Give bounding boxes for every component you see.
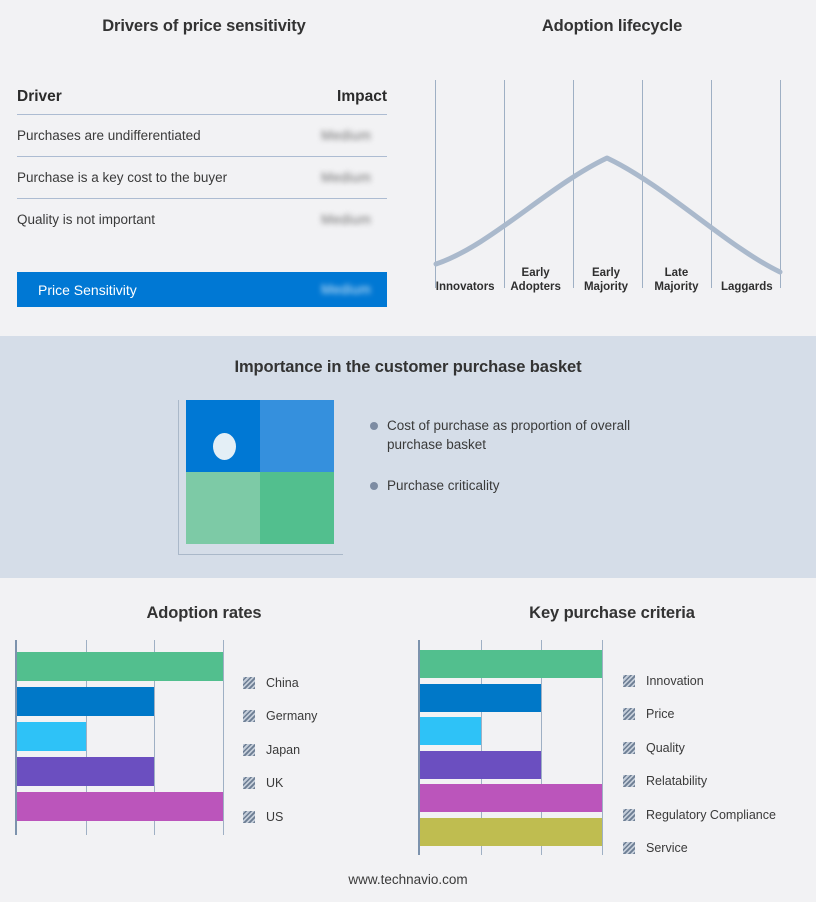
bar (420, 818, 602, 846)
top-section: Drivers of price sensitivity Driver Impa… (0, 0, 816, 336)
legend-item: Germany (243, 700, 317, 734)
drivers-table: Driver Impact Purchases are undifferenti… (17, 88, 387, 240)
legend-swatch-icon (243, 744, 255, 756)
matrix-quadrants (186, 400, 334, 544)
legend-label: Quality (646, 741, 685, 755)
legend-swatch-icon (623, 742, 635, 754)
legend-item: Quality (623, 731, 776, 765)
bar (17, 652, 223, 681)
legend-swatch-icon (243, 677, 255, 689)
lifecycle-chart: Innovators EarlyAdopters EarlyMajority L… (430, 76, 800, 310)
bar (17, 792, 223, 821)
legend-item: Price (623, 698, 776, 732)
impact-value: Medium (321, 128, 387, 143)
page-title-adoption-rates: Adoption rates (0, 604, 408, 623)
bar (420, 650, 602, 678)
legend-swatch-icon (623, 842, 635, 854)
legend-item: UK (243, 767, 317, 801)
legend-label: China (266, 676, 299, 690)
summary-impact-value: Medium (321, 282, 387, 297)
lifecycle-stage-early-adopters: EarlyAdopters (500, 266, 570, 294)
table-row: Purchases are undifferentiated Medium (17, 115, 387, 157)
column-header-driver: Driver (17, 88, 62, 106)
matrix-y-axis (178, 400, 179, 555)
panel-importance-in-purchase-basket: Importance in the customer purchase bask… (0, 336, 816, 578)
impact-value: Medium (321, 170, 387, 185)
impact-value: Medium (321, 212, 387, 227)
price-sensitivity-summary-row: Price Sensitivity Medium (17, 272, 387, 307)
bar (17, 722, 86, 751)
bar (17, 757, 154, 786)
legend-swatch-icon (623, 708, 635, 720)
lifecycle-stage-early-majority: EarlyMajority (571, 266, 641, 294)
gridline (223, 640, 224, 835)
legend-item: China (243, 666, 317, 700)
adoption-bell-curve (436, 158, 780, 272)
legend-label: Purchase criticality (387, 476, 500, 495)
legend-swatch-icon (623, 775, 635, 787)
lifecycle-curve-svg (430, 76, 790, 291)
bar (420, 751, 541, 779)
legend-item: Cost of purchase as proportion of overal… (370, 416, 670, 454)
legend-swatch-icon (243, 811, 255, 823)
panel-adoption-rates: Adoption rates ChinaGermanyJapanUKUS (0, 578, 408, 902)
bar (420, 717, 481, 745)
matrix-x-axis (178, 554, 343, 555)
chart-legend: InnovationPriceQualityRelatabilityRegula… (623, 664, 776, 865)
panel-key-purchase-criteria: Key purchase criteria InnovationPriceQua… (408, 578, 816, 902)
legend-label: Cost of purchase as proportion of overal… (387, 416, 670, 454)
legend-item: Regulatory Compliance (623, 798, 776, 832)
legend-item: Service (623, 832, 776, 866)
purchase-basket-matrix (178, 400, 343, 555)
matrix-quadrant-bottom-right (260, 472, 334, 544)
lifecycle-stage-labels: Innovators EarlyAdopters EarlyMajority L… (430, 266, 782, 294)
bar (17, 687, 154, 716)
legend-label: Innovation (646, 674, 704, 688)
lifecycle-stage-late-majority: LateMajority (641, 266, 711, 294)
legend-swatch-icon (623, 675, 635, 687)
legend-item: Purchase criticality (370, 476, 670, 495)
matrix-quadrant-top-right (260, 400, 334, 472)
bar (420, 684, 541, 712)
driver-label: Quality is not important (17, 212, 155, 227)
footer-website-url: www.technavio.com (0, 872, 816, 887)
legend-label: Regulatory Compliance (646, 808, 776, 822)
legend-label: Japan (266, 743, 300, 757)
summary-label: Price Sensitivity (38, 282, 137, 298)
column-header-impact: Impact (337, 88, 387, 106)
legend-label: Germany (266, 709, 317, 723)
panel-adoption-lifecycle: Adoption lifecycle Innovators EarlyAdopt… (408, 0, 816, 336)
bullet-icon (370, 422, 378, 430)
legend-swatch-icon (623, 809, 635, 821)
lifecycle-stage-innovators: Innovators (430, 280, 500, 294)
legend-item: Relatability (623, 765, 776, 799)
matrix-quadrant-bottom-left (186, 472, 260, 544)
table-row: Quality is not important Medium (17, 199, 387, 240)
chart-plot-area (15, 640, 223, 835)
legend-item: US (243, 800, 317, 834)
page-title-basket: Importance in the customer purchase bask… (0, 358, 816, 377)
legend-label: US (266, 810, 283, 824)
matrix-position-marker-icon (213, 433, 236, 460)
legend-label: Service (646, 841, 688, 855)
table-row: Purchase is a key cost to the buyer Medi… (17, 157, 387, 199)
page-title-drivers: Drivers of price sensitivity (0, 17, 408, 36)
legend-swatch-icon (243, 710, 255, 722)
gridline (602, 640, 603, 855)
legend-swatch-icon (243, 777, 255, 789)
legend-label: Price (646, 707, 674, 721)
bar (420, 784, 602, 812)
legend-item: Innovation (623, 664, 776, 698)
table-header-row: Driver Impact (17, 88, 387, 115)
driver-label: Purchases are undifferentiated (17, 128, 201, 143)
page-title-lifecycle: Adoption lifecycle (408, 17, 816, 36)
driver-label: Purchase is a key cost to the buyer (17, 170, 227, 185)
chart-legend: ChinaGermanyJapanUKUS (243, 666, 317, 834)
panel-drivers-of-price-sensitivity: Drivers of price sensitivity Driver Impa… (0, 0, 408, 336)
bullet-icon (370, 482, 378, 490)
legend-label: Relatability (646, 774, 707, 788)
basket-legend: Cost of purchase as proportion of overal… (370, 416, 670, 517)
chart-plot-area (418, 640, 602, 855)
page-title-key-purchase-criteria: Key purchase criteria (408, 604, 816, 623)
legend-label: UK (266, 776, 283, 790)
legend-item: Japan (243, 733, 317, 767)
bottom-section: Adoption rates ChinaGermanyJapanUKUS Key… (0, 578, 816, 902)
lifecycle-stage-laggards: Laggards (712, 280, 782, 294)
lifecycle-gridlines (436, 80, 781, 288)
